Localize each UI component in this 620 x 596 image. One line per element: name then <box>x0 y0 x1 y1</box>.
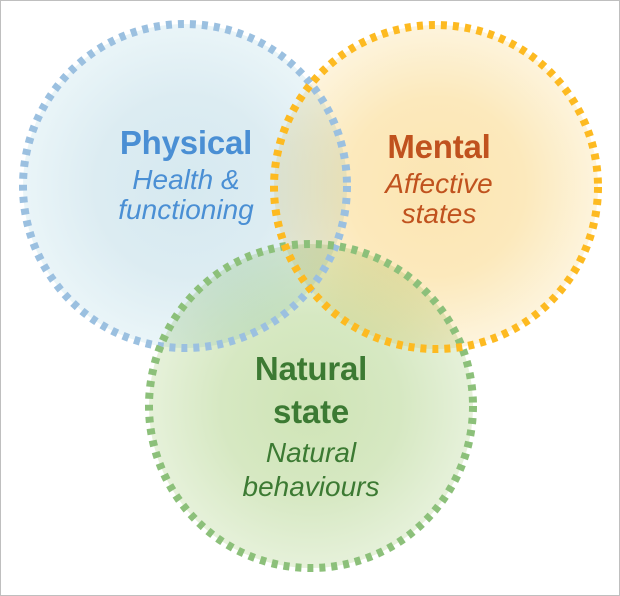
venn-circles-svg <box>1 1 620 596</box>
venn-diagram-frame: Physical Health & functioning Mental Aff… <box>0 0 620 596</box>
